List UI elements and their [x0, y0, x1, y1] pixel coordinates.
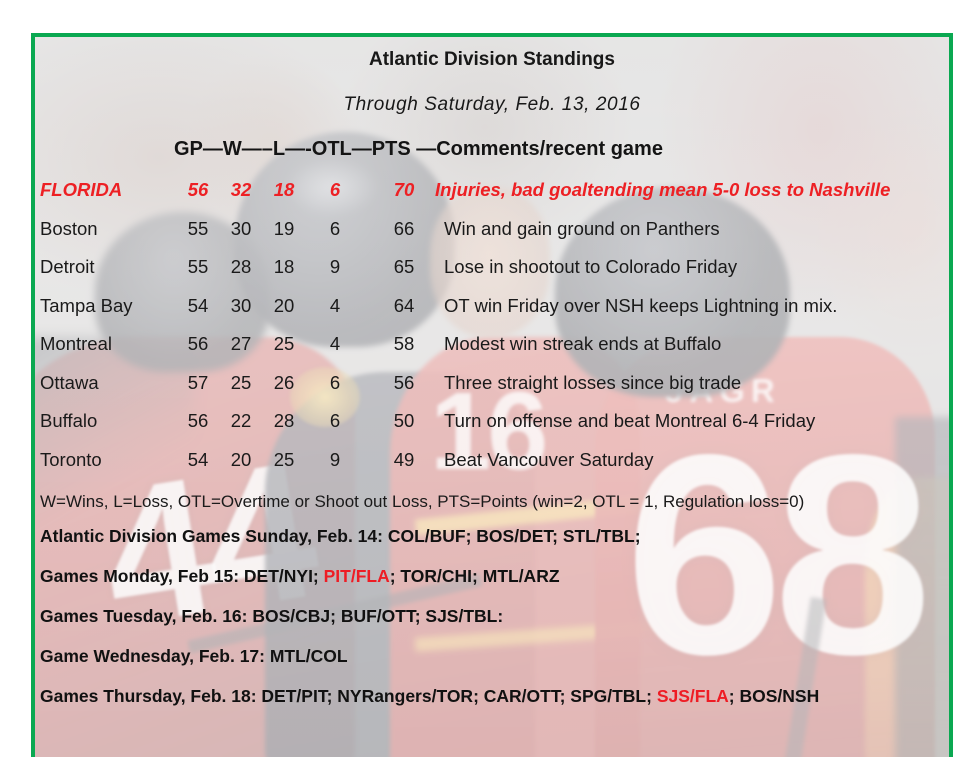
- standings-pts: 58: [387, 333, 421, 355]
- schedule-text: ; TOR/CHI; MTL/ARZ: [390, 566, 560, 586]
- standings-team-name: Tampa Bay: [40, 295, 133, 317]
- standings-pts: 49: [387, 449, 421, 471]
- standings-team-name: Boston: [40, 218, 98, 240]
- standings-otl: 4: [318, 333, 352, 355]
- standings-gp: 56: [181, 333, 215, 355]
- standings-gp: 55: [181, 218, 215, 240]
- schedule-text: ; BOS/NSH: [729, 686, 819, 706]
- table-row: Buffalo562228650Turn on offense and beat…: [35, 410, 949, 449]
- schedule-highlight-game: SJS/FLA: [657, 686, 729, 706]
- standings-otl: 6: [318, 372, 352, 394]
- standings-comment: Turn on offense and beat Montreal 6-4 Fr…: [444, 410, 815, 432]
- standings-pts: 65: [387, 256, 421, 278]
- schedule-text: Games Tuesday, Feb. 16: BOS/CBJ; BUF/OTT…: [40, 606, 503, 626]
- schedule-text: Game Wednesday, Feb. 17: MTL/COL: [40, 646, 348, 666]
- schedule-text: Games Thursday, Feb. 18: DET/PIT; NYRang…: [40, 686, 657, 706]
- standings-otl: 9: [318, 449, 352, 471]
- slide-frame: 44 JAGR 68 16 Atlantic Division Standing…: [31, 33, 953, 757]
- standings-l: 28: [267, 410, 301, 432]
- schedule-line: Game Wednesday, Feb. 17: MTL/COL: [35, 646, 949, 686]
- standings-l: 18: [267, 179, 301, 201]
- standings-gp: 56: [181, 179, 215, 201]
- standings-w: 25: [224, 372, 258, 394]
- table-row: Montreal562725458Modest win streak ends …: [35, 333, 949, 372]
- table-row: Detroit552818965Lose in shootout to Colo…: [35, 256, 949, 295]
- schedule-line: Games Tuesday, Feb. 16: BOS/CBJ; BUF/OTT…: [35, 606, 949, 646]
- standings-comment: OT win Friday over NSH keeps Lightning i…: [444, 295, 837, 317]
- standings-l: 18: [267, 256, 301, 278]
- standings-gp: 54: [181, 295, 215, 317]
- page-subtitle: Through Saturday, Feb. 13, 2016: [35, 94, 949, 116]
- standings-pts: 70: [387, 179, 421, 201]
- standings-l: 20: [267, 295, 301, 317]
- standings-w: 30: [224, 218, 258, 240]
- standings-team-name: Toronto: [40, 449, 102, 471]
- standings-team-name: Montreal: [40, 333, 112, 355]
- table-row: Toronto542025949Beat Vancouver Saturday: [35, 449, 949, 488]
- standings-gp: 57: [181, 372, 215, 394]
- standings-table: FLORIDA563218670Injuries, bad goaltendin…: [35, 179, 949, 487]
- standings-gp: 56: [181, 410, 215, 432]
- schedule-highlight-game: PIT/FLA: [324, 566, 390, 586]
- standings-w: 22: [224, 410, 258, 432]
- table-row: Tampa Bay543020464OT win Friday over NSH…: [35, 295, 949, 334]
- schedule-line: Games Monday, Feb 15: DET/NYI; PIT/FLA; …: [35, 566, 949, 606]
- standings-comment: Win and gain ground on Panthers: [444, 218, 720, 240]
- standings-team-name: FLORIDA: [40, 179, 122, 201]
- schedule-line: Games Thursday, Feb. 18: DET/PIT; NYRang…: [35, 686, 949, 726]
- table-row: FLORIDA563218670Injuries, bad goaltendin…: [35, 179, 949, 218]
- standings-gp: 55: [181, 256, 215, 278]
- standings-pts: 56: [387, 372, 421, 394]
- standings-otl: 6: [318, 410, 352, 432]
- standings-l: 25: [267, 333, 301, 355]
- standings-w: 28: [224, 256, 258, 278]
- standings-team-name: Ottawa: [40, 372, 99, 394]
- standings-comment: Beat Vancouver Saturday: [444, 449, 653, 471]
- slide-content: Atlantic Division Standings Through Satu…: [35, 37, 949, 757]
- page-title: Atlantic Division Standings: [35, 49, 949, 71]
- standings-w: 32: [224, 179, 258, 201]
- table-row: Ottawa572526656Three straight losses sin…: [35, 372, 949, 411]
- standings-pts: 66: [387, 218, 421, 240]
- standings-l: 26: [267, 372, 301, 394]
- legend-text: W=Wins, L=Loss, OTL=Overtime or Shoot ou…: [40, 492, 804, 512]
- standings-otl: 6: [318, 179, 352, 201]
- standings-gp: 54: [181, 449, 215, 471]
- schedule-text: Atlantic Division Games Sunday, Feb. 14:…: [40, 526, 641, 546]
- standings-team-name: Buffalo: [40, 410, 97, 432]
- schedule-line: Atlantic Division Games Sunday, Feb. 14:…: [35, 526, 949, 566]
- standings-comment: Injuries, bad goaltending mean 5-0 loss …: [435, 179, 890, 201]
- standings-pts: 50: [387, 410, 421, 432]
- schedule-list: Atlantic Division Games Sunday, Feb. 14:…: [35, 526, 949, 726]
- standings-comment: Lose in shootout to Colorado Friday: [444, 256, 737, 278]
- standings-l: 19: [267, 218, 301, 240]
- standings-otl: 4: [318, 295, 352, 317]
- standings-comment: Three straight losses since big trade: [444, 372, 741, 394]
- table-row: Boston553019666Win and gain ground on Pa…: [35, 218, 949, 257]
- standings-otl: 9: [318, 256, 352, 278]
- standings-column-header: GP—W—–L—-OTL—PTS —Comments/recent game: [174, 138, 663, 161]
- standings-team-name: Detroit: [40, 256, 95, 278]
- standings-w: 30: [224, 295, 258, 317]
- schedule-text: Games Monday, Feb 15: DET/NYI;: [40, 566, 324, 586]
- standings-w: 20: [224, 449, 258, 471]
- standings-w: 27: [224, 333, 258, 355]
- standings-l: 25: [267, 449, 301, 471]
- standings-otl: 6: [318, 218, 352, 240]
- standings-comment: Modest win streak ends at Buffalo: [444, 333, 721, 355]
- standings-pts: 64: [387, 295, 421, 317]
